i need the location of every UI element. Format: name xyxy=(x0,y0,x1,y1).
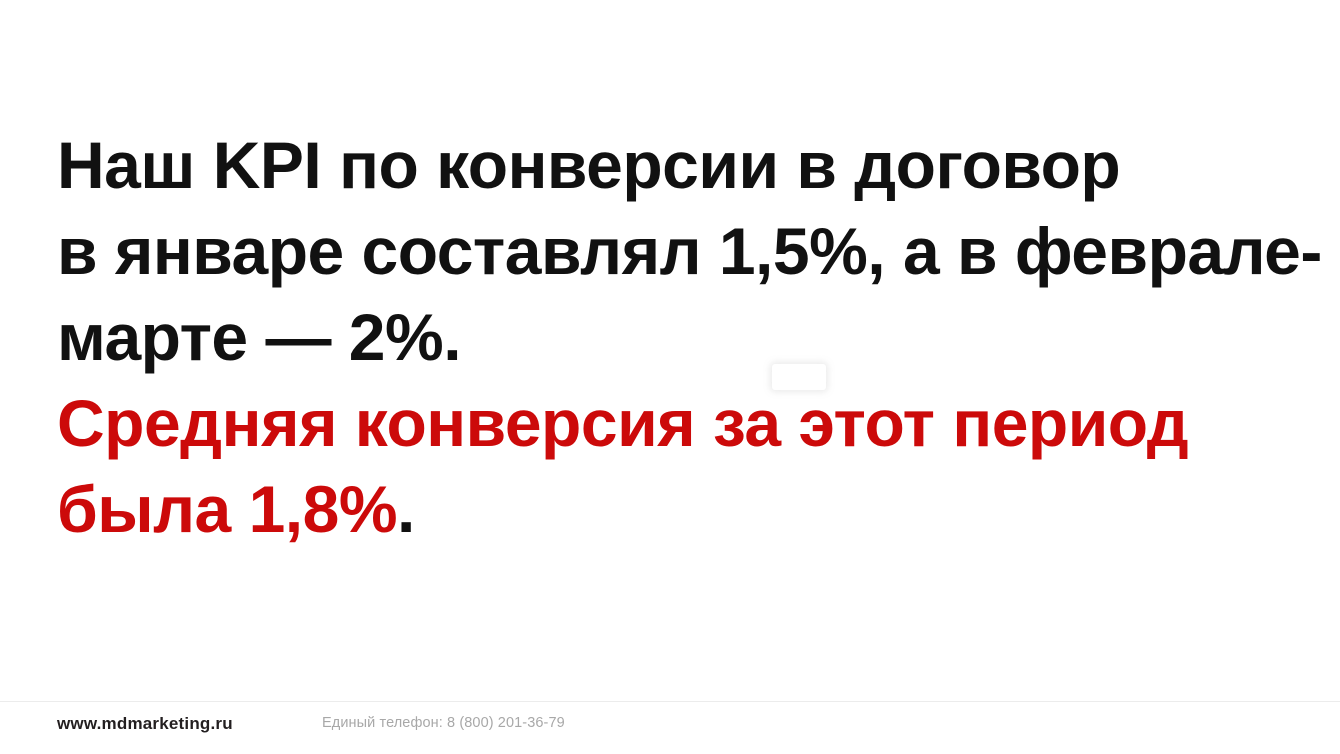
headline-line-1: Наш KPI по конверсии в договор xyxy=(57,122,1257,208)
headline-line-5-red-text: была 1,8% xyxy=(57,472,397,546)
footer-website-link[interactable]: www.mdmarketing.ru xyxy=(57,714,233,734)
page-title: Наш KPI по конверсии в договор в январе … xyxy=(57,122,1257,552)
headline-line-4-accent: Средняя конверсия за этот период xyxy=(57,380,1257,466)
headline-line-5-period: . xyxy=(397,472,415,546)
slide-root: Наш KPI по конверсии в договор в январе … xyxy=(0,0,1340,754)
headline-line-2: в январе составлял 1,5%, а в феврале- xyxy=(57,208,1257,294)
footer: www.mdmarketing.ru Единый телефон: 8 (80… xyxy=(0,702,1340,754)
footer-phone-label: Единый телефон: 8 (800) 201-36-79 xyxy=(322,715,565,731)
headline-line-5-accent: была 1,8%. xyxy=(57,466,1257,552)
headline-line-3: марте — 2%. xyxy=(57,294,1257,380)
overlay-ghost-box xyxy=(772,364,826,390)
